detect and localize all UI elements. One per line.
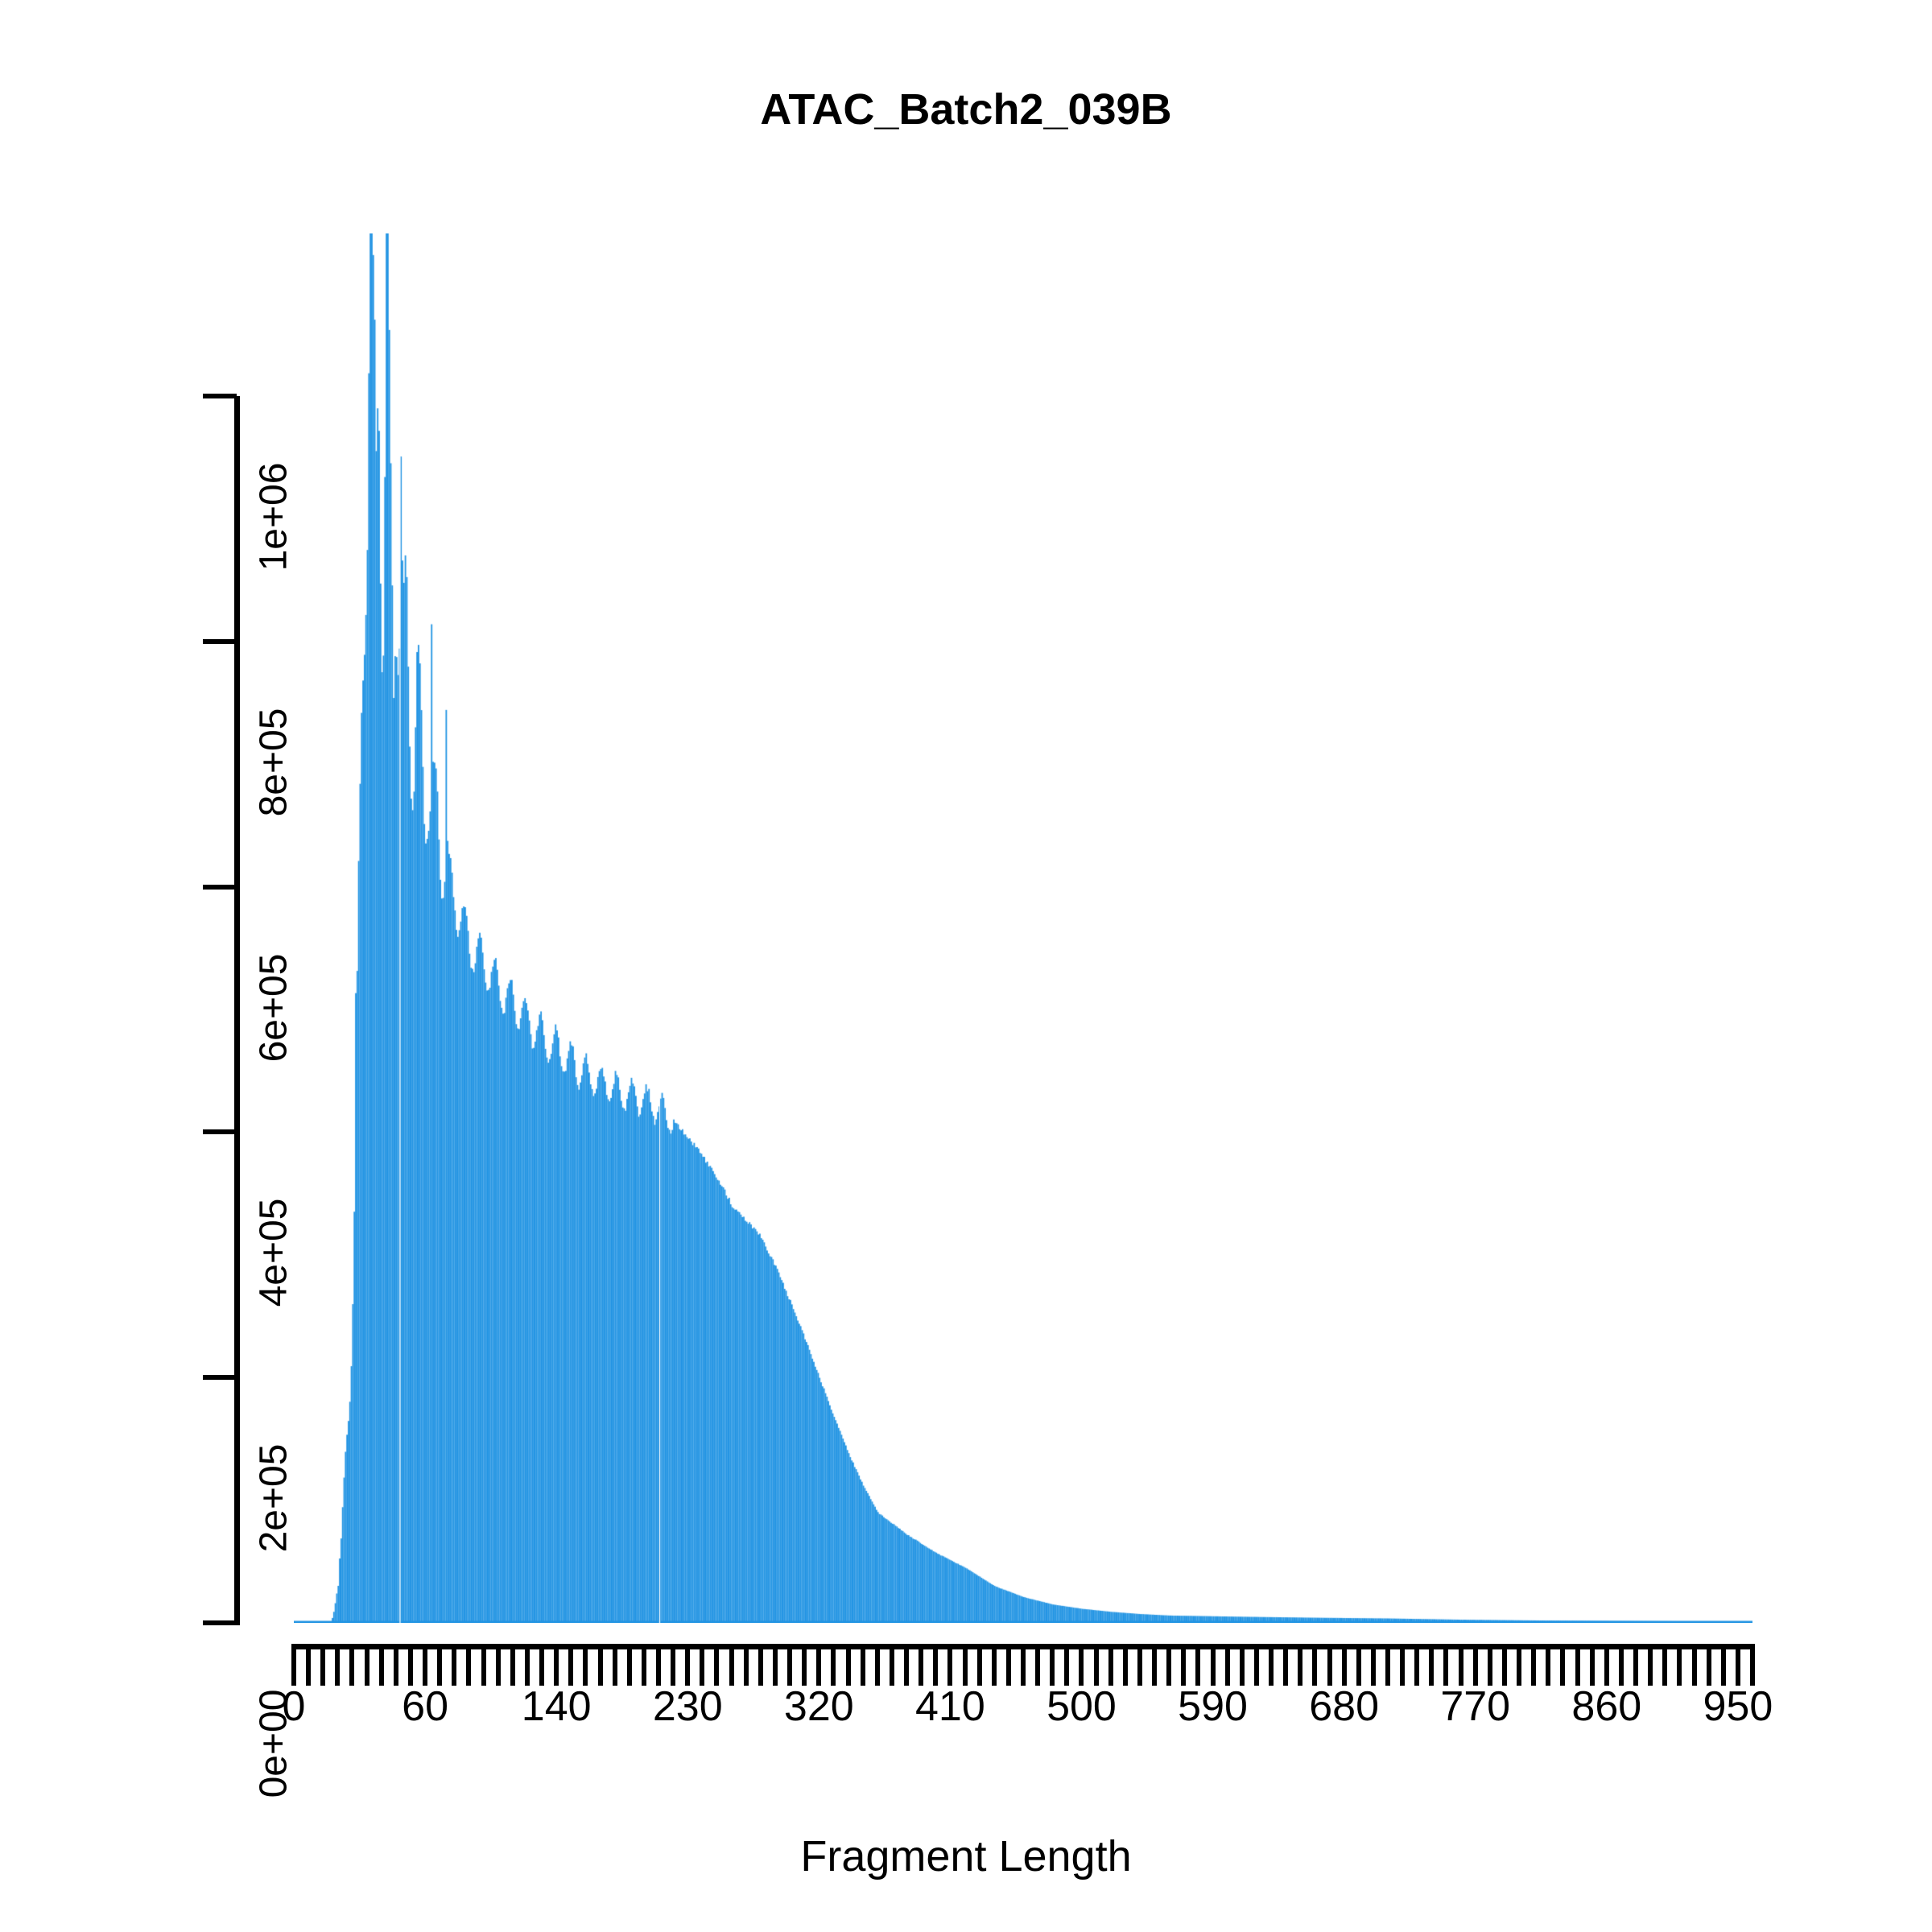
y-axis-tick (203, 1129, 237, 1134)
x-axis-tick (1692, 1644, 1697, 1686)
x-axis-tick-label: 860 (1571, 1682, 1641, 1731)
x-axis-tick (992, 1644, 997, 1686)
x-axis-tick (1327, 1644, 1332, 1686)
x-axis-tick (1750, 1644, 1755, 1686)
x-axis-tick (1021, 1644, 1026, 1686)
x-axis-tick (1517, 1644, 1521, 1686)
x-axis-tick (1560, 1644, 1565, 1686)
x-axis-tick (1356, 1644, 1361, 1686)
y-axis-tick-label: 2e+05 (252, 1377, 296, 1619)
x-axis-tick (671, 1644, 675, 1686)
x-axis-tick (1137, 1644, 1142, 1686)
x-axis-tick (714, 1644, 719, 1686)
x-axis-tick (568, 1644, 573, 1686)
x-axis-tick (525, 1644, 530, 1686)
x-axis-tick (481, 1644, 486, 1686)
x-axis-tick (1619, 1644, 1624, 1686)
x-axis-tick (977, 1644, 982, 1686)
x-axis-tick (846, 1644, 851, 1686)
x-axis-tick-label: 320 (784, 1682, 854, 1731)
x-axis-tick (394, 1644, 398, 1686)
x-axis-tick (1721, 1644, 1726, 1686)
x-axis-tick (685, 1644, 690, 1686)
x-axis-tick (1269, 1644, 1274, 1686)
y-axis-labels: 0e+002e+054e+056e+058e+051e+06 (0, 0, 197, 1932)
fragment-length-histogram-plot: ATAC_Batch2_039B 0e+002e+054e+056e+058e+… (0, 0, 1932, 1932)
x-axis-tick (656, 1644, 661, 1686)
x-axis-tick (598, 1644, 603, 1686)
x-axis-tick (1254, 1644, 1259, 1686)
x-axis-tick-labels: 060140230320410500590680770860950 (0, 1682, 1932, 1747)
x-axis-tick (627, 1644, 632, 1686)
x-axis-tick (423, 1644, 427, 1686)
x-axis-title: Fragment Length (0, 1831, 1932, 1881)
x-axis-tick (1677, 1644, 1682, 1686)
x-axis-tick (875, 1644, 880, 1686)
y-axis-tick-label: 6e+05 (252, 887, 296, 1129)
x-axis-tick (1211, 1644, 1216, 1686)
x-axis-tick (1079, 1644, 1084, 1686)
x-axis-tick-label: 0 (283, 1682, 306, 1731)
x-axis-tick (306, 1644, 311, 1686)
x-axis-tick (1195, 1644, 1200, 1686)
x-axis-tick (963, 1644, 968, 1686)
x-axis-tick (437, 1644, 442, 1686)
y-axis-tick (203, 885, 237, 890)
x-axis-tick (1283, 1644, 1288, 1686)
x-axis-tick (583, 1644, 588, 1686)
x-axis-tick (1298, 1644, 1302, 1686)
x-axis-tick (466, 1644, 471, 1686)
x-axis-tick (831, 1644, 836, 1686)
x-axis-tick-label: 950 (1703, 1682, 1773, 1731)
x-axis-tick (1371, 1644, 1376, 1686)
x-axis-tick (379, 1644, 384, 1686)
x-axis-tick (1123, 1644, 1128, 1686)
y-axis-tick (203, 394, 237, 398)
x-axis-tick (365, 1644, 369, 1686)
x-axis-tick (349, 1644, 354, 1686)
x-axis-tick (802, 1644, 807, 1686)
x-axis-tick (729, 1644, 734, 1686)
x-axis-tick (700, 1644, 704, 1686)
x-axis-tick (787, 1644, 792, 1686)
y-axis-tick-label: 8e+05 (252, 642, 296, 883)
y-axis-tick (203, 1375, 237, 1380)
x-axis-tick (1459, 1644, 1463, 1686)
x-axis-tick (1225, 1644, 1230, 1686)
x-axis-tick (1108, 1644, 1113, 1686)
x-axis-tick (320, 1644, 325, 1686)
x-axis-tick (1648, 1644, 1653, 1686)
x-axis-tick (1414, 1644, 1419, 1686)
x-axis-tick (904, 1644, 909, 1686)
x-axis-tick-label: 410 (915, 1682, 985, 1731)
x-axis-tick (744, 1644, 749, 1686)
x-axis-tick (1546, 1644, 1550, 1686)
x-axis-tick (1312, 1644, 1317, 1686)
x-axis-tick (1736, 1644, 1740, 1686)
x-axis-tick (1502, 1644, 1507, 1686)
x-axis-tick (1385, 1644, 1390, 1686)
x-axis-tick (933, 1644, 938, 1686)
x-axis-tick (758, 1644, 763, 1686)
x-axis-tick (1006, 1644, 1011, 1686)
x-axis-tick (1342, 1644, 1347, 1686)
x-axis-tick-label: 680 (1309, 1682, 1379, 1731)
x-axis-tick-label: 500 (1046, 1682, 1117, 1731)
page-title: ATAC_Batch2_039B (0, 85, 1932, 134)
y-axis-line (234, 396, 240, 1625)
x-axis-tick (1050, 1644, 1055, 1686)
x-axis-tick-label: 60 (402, 1682, 448, 1731)
x-axis-tick (1590, 1644, 1595, 1686)
x-axis-tick-label: 770 (1440, 1682, 1510, 1731)
x-axis-tick (291, 1644, 296, 1686)
x-axis-tick-label: 230 (653, 1682, 723, 1731)
x-axis-tick (1531, 1644, 1536, 1686)
x-axis-tick (510, 1644, 515, 1686)
x-axis-tick (496, 1644, 501, 1686)
x-axis-tick (947, 1644, 952, 1686)
x-axis-tick (861, 1644, 865, 1686)
x-axis-tick (1473, 1644, 1478, 1686)
x-axis-tick (1166, 1644, 1171, 1686)
x-axis-tick (1488, 1644, 1492, 1686)
x-axis-tick (1633, 1644, 1638, 1686)
x-axis-tick (613, 1644, 617, 1686)
x-axis-tick (1443, 1644, 1448, 1686)
x-axis-tick (1181, 1644, 1186, 1686)
x-axis-tick (1575, 1644, 1580, 1686)
y-axis-tick-label: 4e+05 (252, 1132, 296, 1373)
x-axis-tick (1400, 1644, 1405, 1686)
x-axis-tick (539, 1644, 544, 1686)
y-axis-tick (203, 639, 237, 644)
x-axis-tick (1707, 1644, 1711, 1686)
x-axis-tick-label: 590 (1178, 1682, 1248, 1731)
x-axis-tick (554, 1644, 559, 1686)
x-axis-tick (1094, 1644, 1099, 1686)
x-axis-tick (1604, 1644, 1609, 1686)
plot-area (294, 233, 1752, 1623)
histogram-bars (294, 233, 1752, 1623)
y-axis-tick (203, 1620, 237, 1625)
x-axis-tick (919, 1644, 923, 1686)
x-axis-tick (1064, 1644, 1069, 1686)
x-axis-tick (1429, 1644, 1434, 1686)
x-axis-tick (1152, 1644, 1157, 1686)
x-axis-tick (773, 1644, 778, 1686)
x-axis-tick (642, 1644, 646, 1686)
x-axis-tick-label: 140 (522, 1682, 592, 1731)
y-axis-tick-label: 1e+06 (252, 396, 296, 638)
x-axis-tick (408, 1644, 413, 1686)
x-axis-tick (890, 1644, 894, 1686)
x-axis-tick (816, 1644, 821, 1686)
x-axis-tick (1240, 1644, 1245, 1686)
x-axis-tick (452, 1644, 456, 1686)
x-axis-tick (335, 1644, 340, 1686)
x-axis-tick (1662, 1644, 1667, 1686)
x-axis-tick (1035, 1644, 1040, 1686)
